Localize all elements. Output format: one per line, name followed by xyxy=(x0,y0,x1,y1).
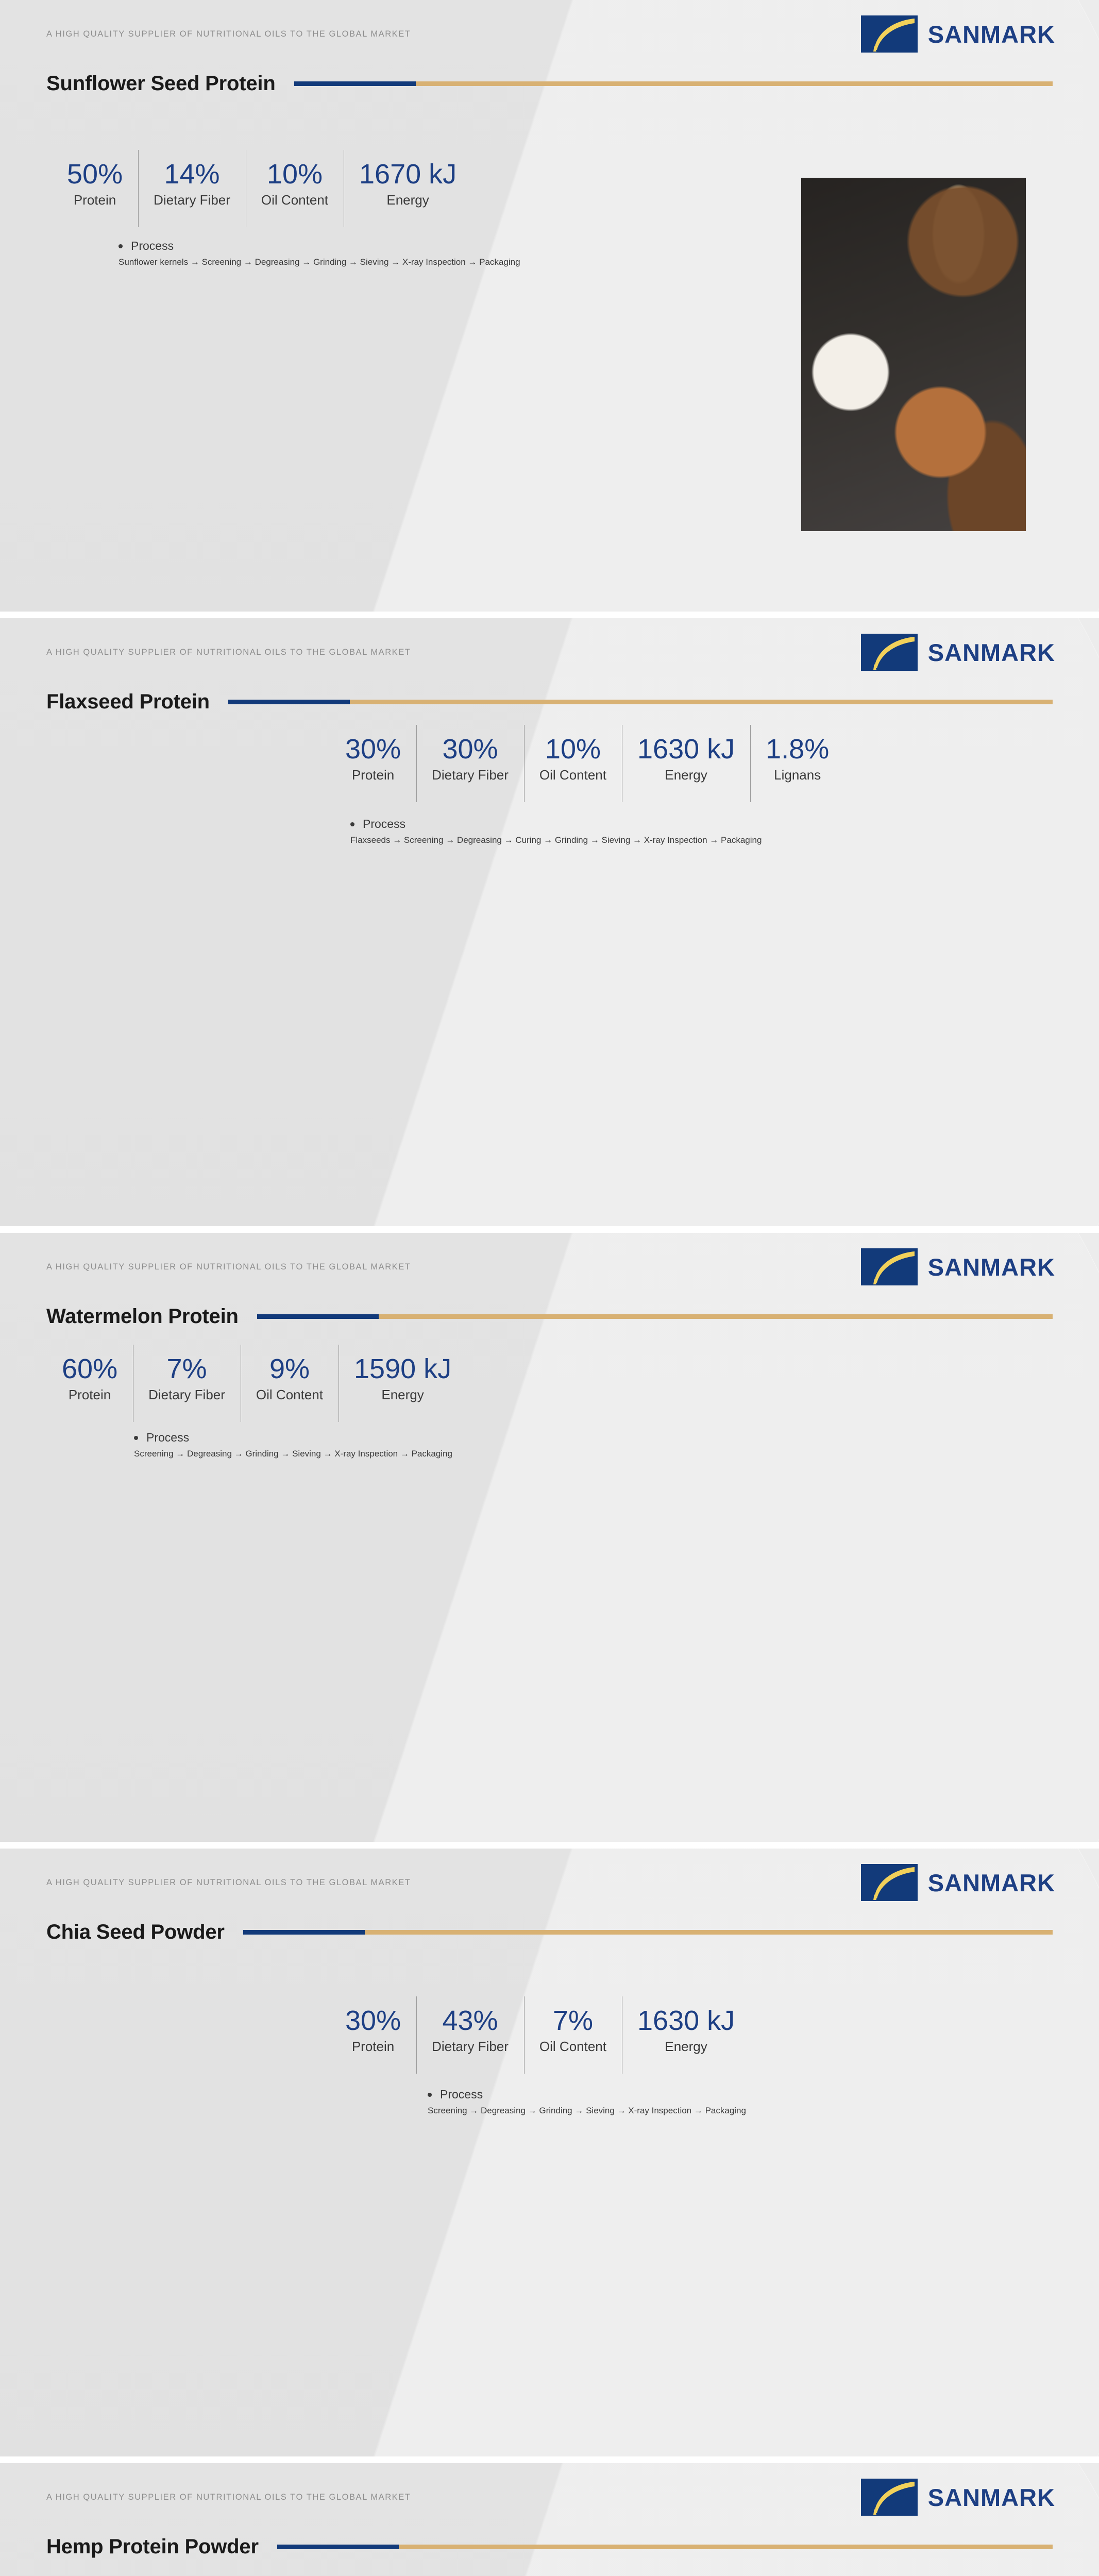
divider-gold-segment xyxy=(416,81,1053,86)
page-title: Hemp Protein Powder xyxy=(46,2535,259,2558)
stat-label: Dietary Fiber xyxy=(148,1386,225,1404)
divider-gold-segment xyxy=(350,700,1053,704)
stat-value: 1670 kJ xyxy=(359,159,456,189)
divider-blue-segment xyxy=(294,81,416,86)
sanmark-logo-mark-icon xyxy=(861,1864,918,1901)
stat-value: 1.8% xyxy=(766,734,829,764)
slide-header: A HIGH QUALITY SUPPLIER OF NUTRITIONAL O… xyxy=(0,0,1099,49)
process-flow: Sunflower kernels → Screening → Degreasi… xyxy=(119,257,778,267)
stat-item: 1630 kJ Energy xyxy=(622,734,750,784)
process-flow: Screening → Degreasing → Grinding → Siev… xyxy=(428,2106,1099,2116)
slide-header: A HIGH QUALITY SUPPLIER OF NUTRITIONAL O… xyxy=(0,1849,1099,1898)
process-label: Process xyxy=(131,239,174,253)
stat-label: Dietary Fiber xyxy=(154,191,230,209)
stat-label: Oil Content xyxy=(261,191,328,209)
slide-sunflower-seed-protein: A HIGH QUALITY SUPPLIER OF NUTRITIONAL O… xyxy=(0,0,1099,612)
title-divider xyxy=(277,2545,1053,2549)
stat-label: Dietary Fiber xyxy=(432,766,509,784)
sanmark-logo-text: SANMARK xyxy=(928,1871,1055,1895)
title-row: Watermelon Protein xyxy=(0,1305,1099,1328)
stat-item: 1.8% Lignans xyxy=(750,734,844,784)
divider-gold-segment xyxy=(399,2545,1053,2549)
sanmark-logo-text: SANMARK xyxy=(928,22,1055,46)
bullet-icon xyxy=(428,2093,432,2097)
title-divider xyxy=(228,700,1053,704)
divider-gold-segment xyxy=(365,1930,1053,1935)
divider-blue-segment xyxy=(277,2545,399,2549)
page-title: Chia Seed Powder xyxy=(46,1921,225,1944)
stat-value: 7% xyxy=(148,1354,225,1384)
stat-item: 30% Protein xyxy=(330,2006,416,2056)
slide-hemp-protein-powder: A HIGH QUALITY SUPPLIER OF NUTRITIONAL O… xyxy=(0,2463,1099,2576)
process-block: Process Flaxseeds → Screening → Degreasi… xyxy=(330,817,1099,845)
stat-value: 43% xyxy=(432,2006,509,2036)
bullet-icon xyxy=(119,244,123,248)
stat-value: 1630 kJ xyxy=(637,2006,735,2036)
sanmark-logo-mark-icon xyxy=(861,634,918,671)
process-heading: Process xyxy=(428,2088,1099,2102)
sanmark-logo-mark-icon xyxy=(861,15,918,53)
title-row: Hemp Protein Powder xyxy=(0,2535,1099,2558)
stat-value: 7% xyxy=(539,2006,606,2036)
stat-item: 60% Protein xyxy=(46,1354,133,1404)
stat-value: 50% xyxy=(67,159,123,189)
process-flow: Flaxseeds → Screening → Degreasing → Cur… xyxy=(350,835,1099,845)
stat-item: 1590 kJ Energy xyxy=(339,1354,467,1404)
company-tagline: A HIGH QUALITY SUPPLIER OF NUTRITIONAL O… xyxy=(46,1262,411,1272)
sanmark-logo: SANMARK xyxy=(861,2479,1055,2516)
company-tagline: A HIGH QUALITY SUPPLIER OF NUTRITIONAL O… xyxy=(46,29,411,39)
stat-value: 30% xyxy=(432,734,509,764)
sanmark-logo: SANMARK xyxy=(861,1864,1055,1901)
divider-blue-segment xyxy=(243,1930,365,1935)
title-row: Sunflower Seed Protein xyxy=(0,72,1099,95)
title-divider xyxy=(243,1930,1053,1935)
slide-chia-seed-powder: A HIGH QUALITY SUPPLIER OF NUTRITIONAL O… xyxy=(0,1849,1099,2456)
sanmark-logo: SANMARK xyxy=(861,15,1055,53)
page-title: Watermelon Protein xyxy=(46,1305,239,1328)
page-title: Flaxseed Protein xyxy=(46,690,210,714)
stat-label: Protein xyxy=(345,2038,401,2056)
divider-blue-segment xyxy=(228,700,350,704)
process-flow: Screening → Degreasing → Grinding → Siev… xyxy=(134,1449,721,1459)
stat-value: 1630 kJ xyxy=(637,734,735,764)
stat-item: 7% Oil Content xyxy=(524,2006,622,2056)
stat-label: Protein xyxy=(345,766,401,784)
process-block: Process Screening → Degreasing → Grindin… xyxy=(46,1431,721,1459)
stat-label: Lignans xyxy=(766,766,829,784)
stat-item: 10% Oil Content xyxy=(524,734,622,784)
stat-item: 1670 kJ Energy xyxy=(344,159,472,209)
stats-row: 50% Protein 14% Dietary Fiber 10% Oil Co… xyxy=(46,159,778,209)
stat-label: Oil Content xyxy=(256,1386,323,1404)
stat-item: 9% Oil Content xyxy=(241,1354,339,1404)
stat-item: 14% Dietary Fiber xyxy=(138,159,246,209)
process-block: Process Screening → Degreasing → Grindin… xyxy=(330,2088,1099,2116)
stat-value: 30% xyxy=(345,2006,401,2036)
stats-row: 30% Protein 30% Dietary Fiber 10% Oil Co… xyxy=(330,734,1099,784)
stat-item: 7% Dietary Fiber xyxy=(133,1354,241,1404)
stat-label: Energy xyxy=(637,2038,735,2056)
stat-value: 9% xyxy=(256,1354,323,1384)
page-title: Sunflower Seed Protein xyxy=(46,72,276,95)
slide-header: A HIGH QUALITY SUPPLIER OF NUTRITIONAL O… xyxy=(0,1233,1099,1282)
sanmark-logo-mark-icon xyxy=(861,1248,918,1285)
title-row: Flaxseed Protein xyxy=(0,690,1099,714)
stat-label: Protein xyxy=(67,191,123,209)
stat-value: 14% xyxy=(154,159,230,189)
sanmark-logo-text: SANMARK xyxy=(928,640,1055,665)
stat-item: 43% Dietary Fiber xyxy=(416,2006,524,2056)
stat-label: Dietary Fiber xyxy=(432,2038,509,2056)
sanmark-logo-mark-icon xyxy=(861,2479,918,2516)
title-divider xyxy=(294,81,1053,86)
stat-value: 10% xyxy=(261,159,328,189)
stat-value: 1590 kJ xyxy=(354,1354,451,1384)
sanmark-logo-text: SANMARK xyxy=(928,2485,1055,2510)
stat-label: Protein xyxy=(62,1386,117,1404)
process-block: Process Sunflower kernels → Screening → … xyxy=(46,239,778,267)
sanmark-logo: SANMARK xyxy=(861,1248,1055,1285)
stat-label: Oil Content xyxy=(539,766,606,784)
stat-item: 1630 kJ Energy xyxy=(622,2006,750,2056)
company-tagline: A HIGH QUALITY SUPPLIER OF NUTRITIONAL O… xyxy=(46,1878,411,1888)
stat-value: 30% xyxy=(345,734,401,764)
process-heading: Process xyxy=(119,239,778,253)
stat-item: 10% Oil Content xyxy=(246,159,344,209)
divider-blue-segment xyxy=(257,1314,379,1319)
stats-row: 60% Protein 7% Dietary Fiber 9% Oil Cont… xyxy=(46,1354,721,1404)
stat-item: 30% Protein xyxy=(330,734,416,784)
process-label: Process xyxy=(146,1431,189,1445)
stat-item: 50% Protein xyxy=(52,159,138,209)
stat-label: Oil Content xyxy=(539,2038,606,2056)
stat-item: 30% Dietary Fiber xyxy=(416,734,524,784)
company-tagline: A HIGH QUALITY SUPPLIER OF NUTRITIONAL O… xyxy=(46,2493,411,2502)
slide-header: A HIGH QUALITY SUPPLIER OF NUTRITIONAL O… xyxy=(0,2463,1099,2513)
stat-value: 10% xyxy=(539,734,606,764)
company-tagline: A HIGH QUALITY SUPPLIER OF NUTRITIONAL O… xyxy=(46,648,411,657)
process-label: Process xyxy=(363,817,405,831)
divider-gold-segment xyxy=(379,1314,1053,1319)
sanmark-logo-text: SANMARK xyxy=(928,1255,1055,1279)
slide-flaxseed-protein: A HIGH QUALITY SUPPLIER OF NUTRITIONAL O… xyxy=(0,618,1099,1226)
title-row: Chia Seed Powder xyxy=(0,1921,1099,1944)
slide-watermelon-protein: A HIGH QUALITY SUPPLIER OF NUTRITIONAL O… xyxy=(0,1233,1099,1842)
stat-value: 60% xyxy=(62,1354,117,1384)
sanmark-logo: SANMARK xyxy=(861,634,1055,671)
process-label: Process xyxy=(440,2088,483,2102)
title-divider xyxy=(257,1314,1053,1319)
stats-row: 30% Protein 43% Dietary Fiber 7% Oil Con… xyxy=(330,2006,1099,2056)
slide-header: A HIGH QUALITY SUPPLIER OF NUTRITIONAL O… xyxy=(0,618,1099,668)
stat-label: Energy xyxy=(354,1386,451,1404)
stat-label: Energy xyxy=(359,191,456,209)
process-heading: Process xyxy=(350,817,1099,831)
bullet-icon xyxy=(350,822,354,826)
process-heading: Process xyxy=(134,1431,721,1445)
bullet-icon xyxy=(134,1436,138,1440)
stat-label: Energy xyxy=(637,766,735,784)
